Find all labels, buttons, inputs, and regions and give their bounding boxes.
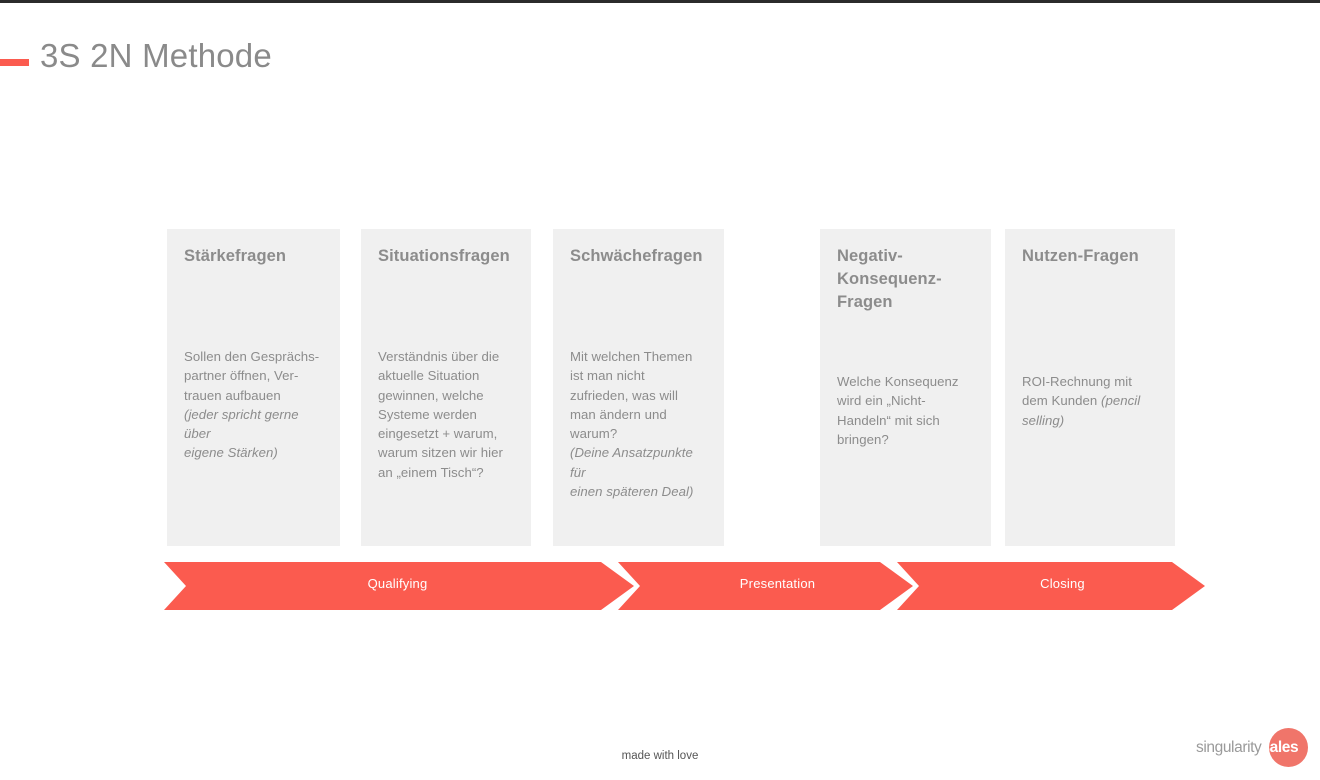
card-body: ROI-Rechnung mitdem Kunden (pencilsellin… xyxy=(1022,372,1161,430)
card-body: Sollen den Gesprächs-partner öffnen, Ver… xyxy=(184,347,326,463)
stage-label-closing: Closing xyxy=(945,576,1180,591)
question-card-negativ-konsequenz-fragen: Negativ-Konsequenz-Fragen Welche Konsequ… xyxy=(820,229,991,546)
card-title: Negativ-Konsequenz-Fragen xyxy=(837,245,974,313)
page-title: 3S 2N Methode xyxy=(40,37,272,75)
stage-label-qualifying: Qualifying xyxy=(200,576,595,591)
card-body: Welche Konsequenzwird ein „Nicht-Handeln… xyxy=(837,372,977,449)
card-title: Schwächefragen xyxy=(570,245,707,268)
stage-label-presentation: Presentation xyxy=(655,576,900,591)
title-accent-dash xyxy=(0,59,29,66)
question-card-schwaechefragen: Schwächefragen Mit welchen Themenist man… xyxy=(553,229,724,546)
top-rule xyxy=(0,0,1320,3)
card-body: Verständnis über dieaktuelle Situationge… xyxy=(378,347,517,482)
card-title: Nutzen-Fragen xyxy=(1022,245,1158,268)
question-card-nutzen-fragen: Nutzen-Fragen ROI-Rechnung mitdem Kunden… xyxy=(1005,229,1175,546)
question-card-staerkefragen: Stärkefragen Sollen den Gesprächs-partne… xyxy=(167,229,340,546)
brand-logo: singularitysales xyxy=(1196,726,1308,768)
card-title: Situationsfragen xyxy=(378,245,514,268)
logo-word-sales: sales xyxy=(1261,739,1298,756)
question-card-situationsfragen: Situationsfragen Verständnis über dieakt… xyxy=(361,229,531,546)
logo-word-singularity: singularity xyxy=(1196,739,1261,756)
logo-wordmark: singularitysales xyxy=(1196,739,1298,757)
card-title: Stärkefragen xyxy=(184,245,323,268)
footer-note: made with love xyxy=(0,750,1320,762)
card-body: Mit welchen Themenist man nichtzufrieden… xyxy=(570,347,710,501)
